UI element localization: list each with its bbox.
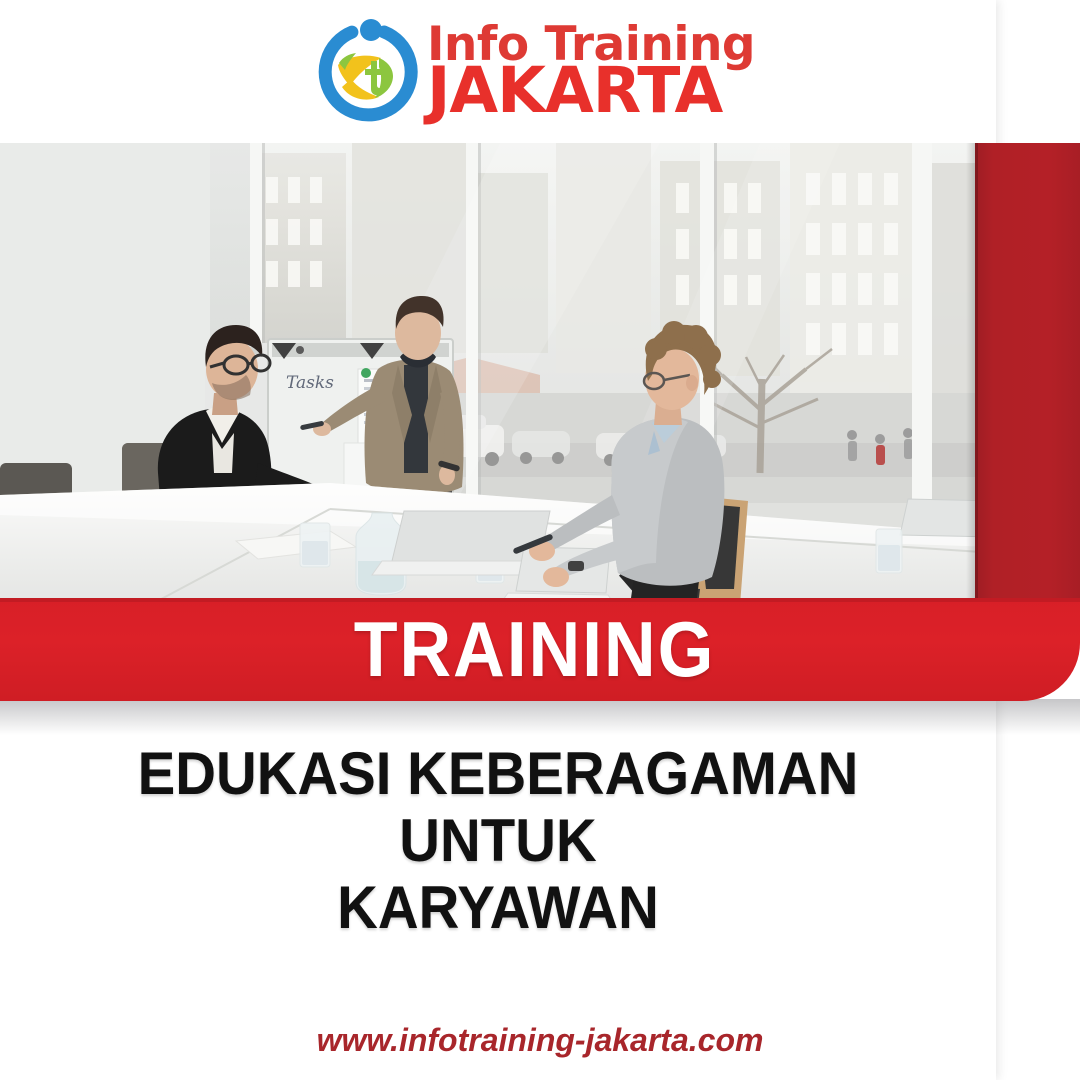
side-accent-slab [975,143,1080,608]
side-slab-shadow [966,143,978,608]
header: Info Training JAKARTA [0,0,1080,143]
page-title-line1: EDUKASI KEBERAGAMAN UNTUK [47,740,949,874]
logo-mark-icon [309,13,427,131]
footer: www.infotraining-jakarta.com [0,1022,1080,1059]
website-url[interactable]: www.infotraining-jakarta.com [317,1022,764,1058]
banner-drop-shadow [0,699,1080,735]
page-title-line2: KARYAWAN [47,874,949,941]
training-banner: TRAINING [0,598,1080,701]
banner-label: TRAINING [353,604,715,695]
hero-image: Tasks [0,143,996,605]
brand-logo[interactable]: Info Training JAKARTA [309,13,755,131]
title-block: EDUKASI KEBERAGAMAN UNTUK KARYAWAN [0,740,996,942]
brand-wordmark: Info Training JAKARTA [427,23,755,120]
brand-name-line2: JAKARTA [427,62,755,120]
poster-canvas: Info Training JAKARTA [0,0,1080,1080]
